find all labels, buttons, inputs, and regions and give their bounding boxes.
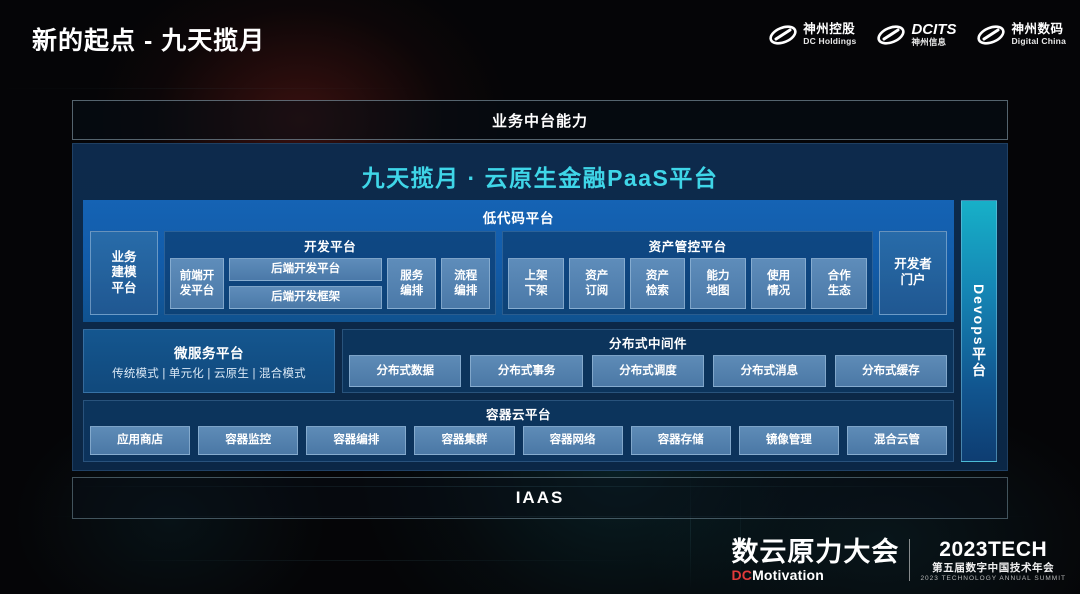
asset-chip-capability-map[interactable]: 能力 地图 (690, 258, 746, 309)
tile-line: 平台 (111, 281, 136, 297)
background-fiber (120, 560, 640, 561)
container-chip-app-store[interactable]: 应用商店 (90, 426, 190, 455)
chip-line: 生态 (828, 284, 851, 298)
capability-bar-label: 业务中台能力 (492, 110, 588, 131)
lowcode-row: 业务 建模 平台 开发平台 前端开 发平台 (90, 231, 947, 315)
devops-platform-sidebar[interactable]: Devops平台 (961, 200, 997, 462)
tile-line: 开发者 (894, 257, 932, 273)
capability-bar: 业务中台能力 (72, 100, 1008, 140)
conference-subtitle-en: 2023 TECHNOLOGY ANNUAL SUMMIT (920, 575, 1066, 582)
container-chip-image-management[interactable]: 镜像管理 (739, 426, 839, 455)
tile-line: 门户 (894, 273, 932, 289)
chip-line: 前端开 (180, 269, 215, 283)
microservice-platform-block[interactable]: 微服务平台 传统模式 | 单元化 | 云原生 | 混合模式 (83, 329, 335, 393)
conference-subtitle-cn: 第五届数字中国技术年会 (920, 562, 1066, 574)
chip-line: 检索 (646, 284, 669, 298)
backend-dev-framework-chip[interactable]: 后端开发框架 (229, 286, 382, 309)
chip-line: 情况 (767, 284, 790, 298)
logo-en-text: Digital China (1011, 37, 1066, 46)
business-modeling-platform-tile[interactable]: 业务 建模 平台 (90, 231, 158, 315)
asset-chip-subscription[interactable]: 资产 订阅 (569, 258, 625, 309)
logo-en-text: 神州信息 (911, 38, 956, 47)
conference-divider (909, 539, 910, 581)
logo-cn-text: 神州控股 (803, 23, 856, 37)
asset-chip-search[interactable]: 资产 检索 (630, 258, 686, 309)
middleware-chip-data[interactable]: 分布式数据 (349, 355, 461, 387)
conference-name-en-dc: DC (731, 567, 752, 583)
logo-cn-text: 神州数码 (1011, 23, 1066, 37)
tile-line: 建模 (111, 265, 136, 281)
container-chip-orchestration[interactable]: 容器编排 (306, 426, 406, 455)
middleware-chip-transaction[interactable]: 分布式事务 (470, 355, 582, 387)
microservice-platform-title: 微服务平台 (174, 342, 244, 362)
chip-line: 使用 (767, 269, 790, 283)
chip-line: 资产 (585, 269, 608, 283)
distributed-middleware-group: 分布式中间件 分布式数据 分布式事务 分布式调度 分布式消息 分布式缓存 (342, 329, 954, 393)
iaas-bar: IAAS (72, 477, 1008, 519)
asset-chip-usage[interactable]: 使用 情况 (751, 258, 807, 309)
container-cloud-group: 容器云平台 应用商店 容器监控 容器编排 容器集群 容器网络 容器存储 镜像管理… (83, 400, 954, 462)
chip-line: 编排 (454, 284, 477, 298)
conference-logo-left: 数云原力大会 DCMotivation (731, 539, 899, 582)
swirl-icon (768, 23, 798, 47)
middleware-chip-scheduling[interactable]: 分布式调度 (592, 355, 704, 387)
chip-line: 下架 (525, 284, 548, 298)
paas-platform-panel: 九天揽月 · 云原生金融PaaS平台 低代码平台 业务 建模 平台 (72, 143, 1008, 471)
distributed-middleware-title: 分布式中间件 (349, 332, 947, 355)
iaas-label: IAAS (516, 488, 565, 508)
slide-canvas: 新的起点 - 九天揽月 神州控股 DC Holdings DCITS 神州信息 (0, 0, 1080, 594)
backend-dev-platform-chip[interactable]: 后端开发平台 (229, 258, 382, 281)
conference-name-en: DCMotivation (731, 568, 899, 582)
dev-platform-title: 开发平台 (170, 235, 490, 258)
asset-management-group: 资产管控平台 上架 下架 资产 (502, 231, 873, 315)
platform-layers: 低代码平台 业务 建模 平台 开发平台 (83, 200, 954, 462)
container-chip-network[interactable]: 容器网络 (523, 426, 623, 455)
chip-line: 发平台 (180, 284, 215, 298)
conference-name-en-rest: Motivation (752, 567, 824, 583)
chip-line: 上架 (525, 269, 548, 283)
middleware-chip-cache[interactable]: 分布式缓存 (835, 355, 947, 387)
chip-line: 服务 (400, 269, 423, 283)
chip-line: 流程 (454, 269, 477, 283)
asset-chip-listing[interactable]: 上架 下架 (508, 258, 564, 309)
container-cloud-title: 容器云平台 (90, 403, 947, 426)
conference-logo-right: 2023TECH 第五届数字中国技术年会 2023 TECHNOLOGY ANN… (920, 538, 1066, 582)
dev-platform-row: 前端开 发平台 后端开发平台 后端开发框架 (170, 258, 490, 309)
conference-year-tech: 2023TECH (920, 538, 1066, 562)
logo-en-text: DC Holdings (803, 37, 856, 46)
chip-line: 合作 (828, 269, 851, 283)
asset-management-title: 资产管控平台 (508, 235, 867, 258)
platform-body: 低代码平台 业务 建模 平台 开发平台 (83, 200, 997, 462)
backend-stack: 后端开发平台 后端开发框架 (229, 258, 382, 309)
digital-china-logo: 神州数码 Digital China (976, 23, 1066, 47)
container-chip-storage[interactable]: 容器存储 (631, 426, 731, 455)
middleware-chip-message[interactable]: 分布式消息 (713, 355, 825, 387)
paas-platform-title: 九天揽月 · 云原生金融PaaS平台 (83, 152, 997, 200)
tile-line: 业务 (111, 250, 136, 266)
chip-line: 地图 (706, 284, 729, 298)
page-title: 新的起点 - 九天揽月 (32, 21, 265, 57)
background-fiber (0, 88, 420, 89)
swirl-icon (976, 23, 1006, 47)
container-chip-monitoring[interactable]: 容器监控 (198, 426, 298, 455)
conference-logo: 数云原力大会 DCMotivation 2023TECH 第五届数字中国技术年会… (731, 538, 1066, 582)
conference-name-cn: 数云原力大会 (731, 539, 899, 566)
middleware-layer: 微服务平台 传统模式 | 单元化 | 云原生 | 混合模式 分布式中间件 分布式… (83, 329, 954, 393)
lowcode-platform-title: 低代码平台 (90, 205, 947, 231)
container-chip-hybrid-cloud[interactable]: 混合云管 (847, 426, 947, 455)
lowcode-platform-section: 低代码平台 业务 建模 平台 开发平台 (83, 200, 954, 322)
service-orchestration-chip[interactable]: 服务 编排 (387, 258, 436, 309)
chip-line: 资产 (646, 269, 669, 283)
brand-logo-bar: 神州控股 DC Holdings DCITS 神州信息 神州数码 Digital… (768, 22, 1066, 47)
process-orchestration-chip[interactable]: 流程 编排 (441, 258, 490, 309)
distributed-middleware-row: 分布式数据 分布式事务 分布式调度 分布式消息 分布式缓存 (349, 355, 947, 387)
asset-management-row: 上架 下架 资产 订阅 (508, 258, 867, 309)
developer-portal-tile[interactable]: 开发者 门户 (879, 231, 947, 315)
microservice-platform-subtitle: 传统模式 | 单元化 | 云原生 | 混合模式 (112, 365, 306, 381)
dc-holdings-logo: 神州控股 DC Holdings (768, 23, 856, 47)
dcits-logo: DCITS 神州信息 (876, 22, 956, 47)
devops-platform-label: Devops平台 (969, 284, 989, 379)
logo-cn-text: DCITS (911, 22, 956, 38)
container-cloud-row: 应用商店 容器监控 容器编排 容器集群 容器网络 容器存储 镜像管理 混合云管 (90, 426, 947, 455)
chip-line: 编排 (400, 284, 423, 298)
asset-chip-partner-ecosystem[interactable]: 合作 生态 (811, 258, 867, 309)
dev-platform-group: 开发平台 前端开 发平台 后端开发平台 (164, 231, 496, 315)
chip-line: 能力 (706, 269, 729, 283)
frontend-dev-platform-chip[interactable]: 前端开 发平台 (170, 258, 224, 309)
container-chip-cluster[interactable]: 容器集群 (414, 426, 514, 455)
chip-line: 订阅 (585, 284, 608, 298)
swirl-icon (876, 23, 906, 47)
